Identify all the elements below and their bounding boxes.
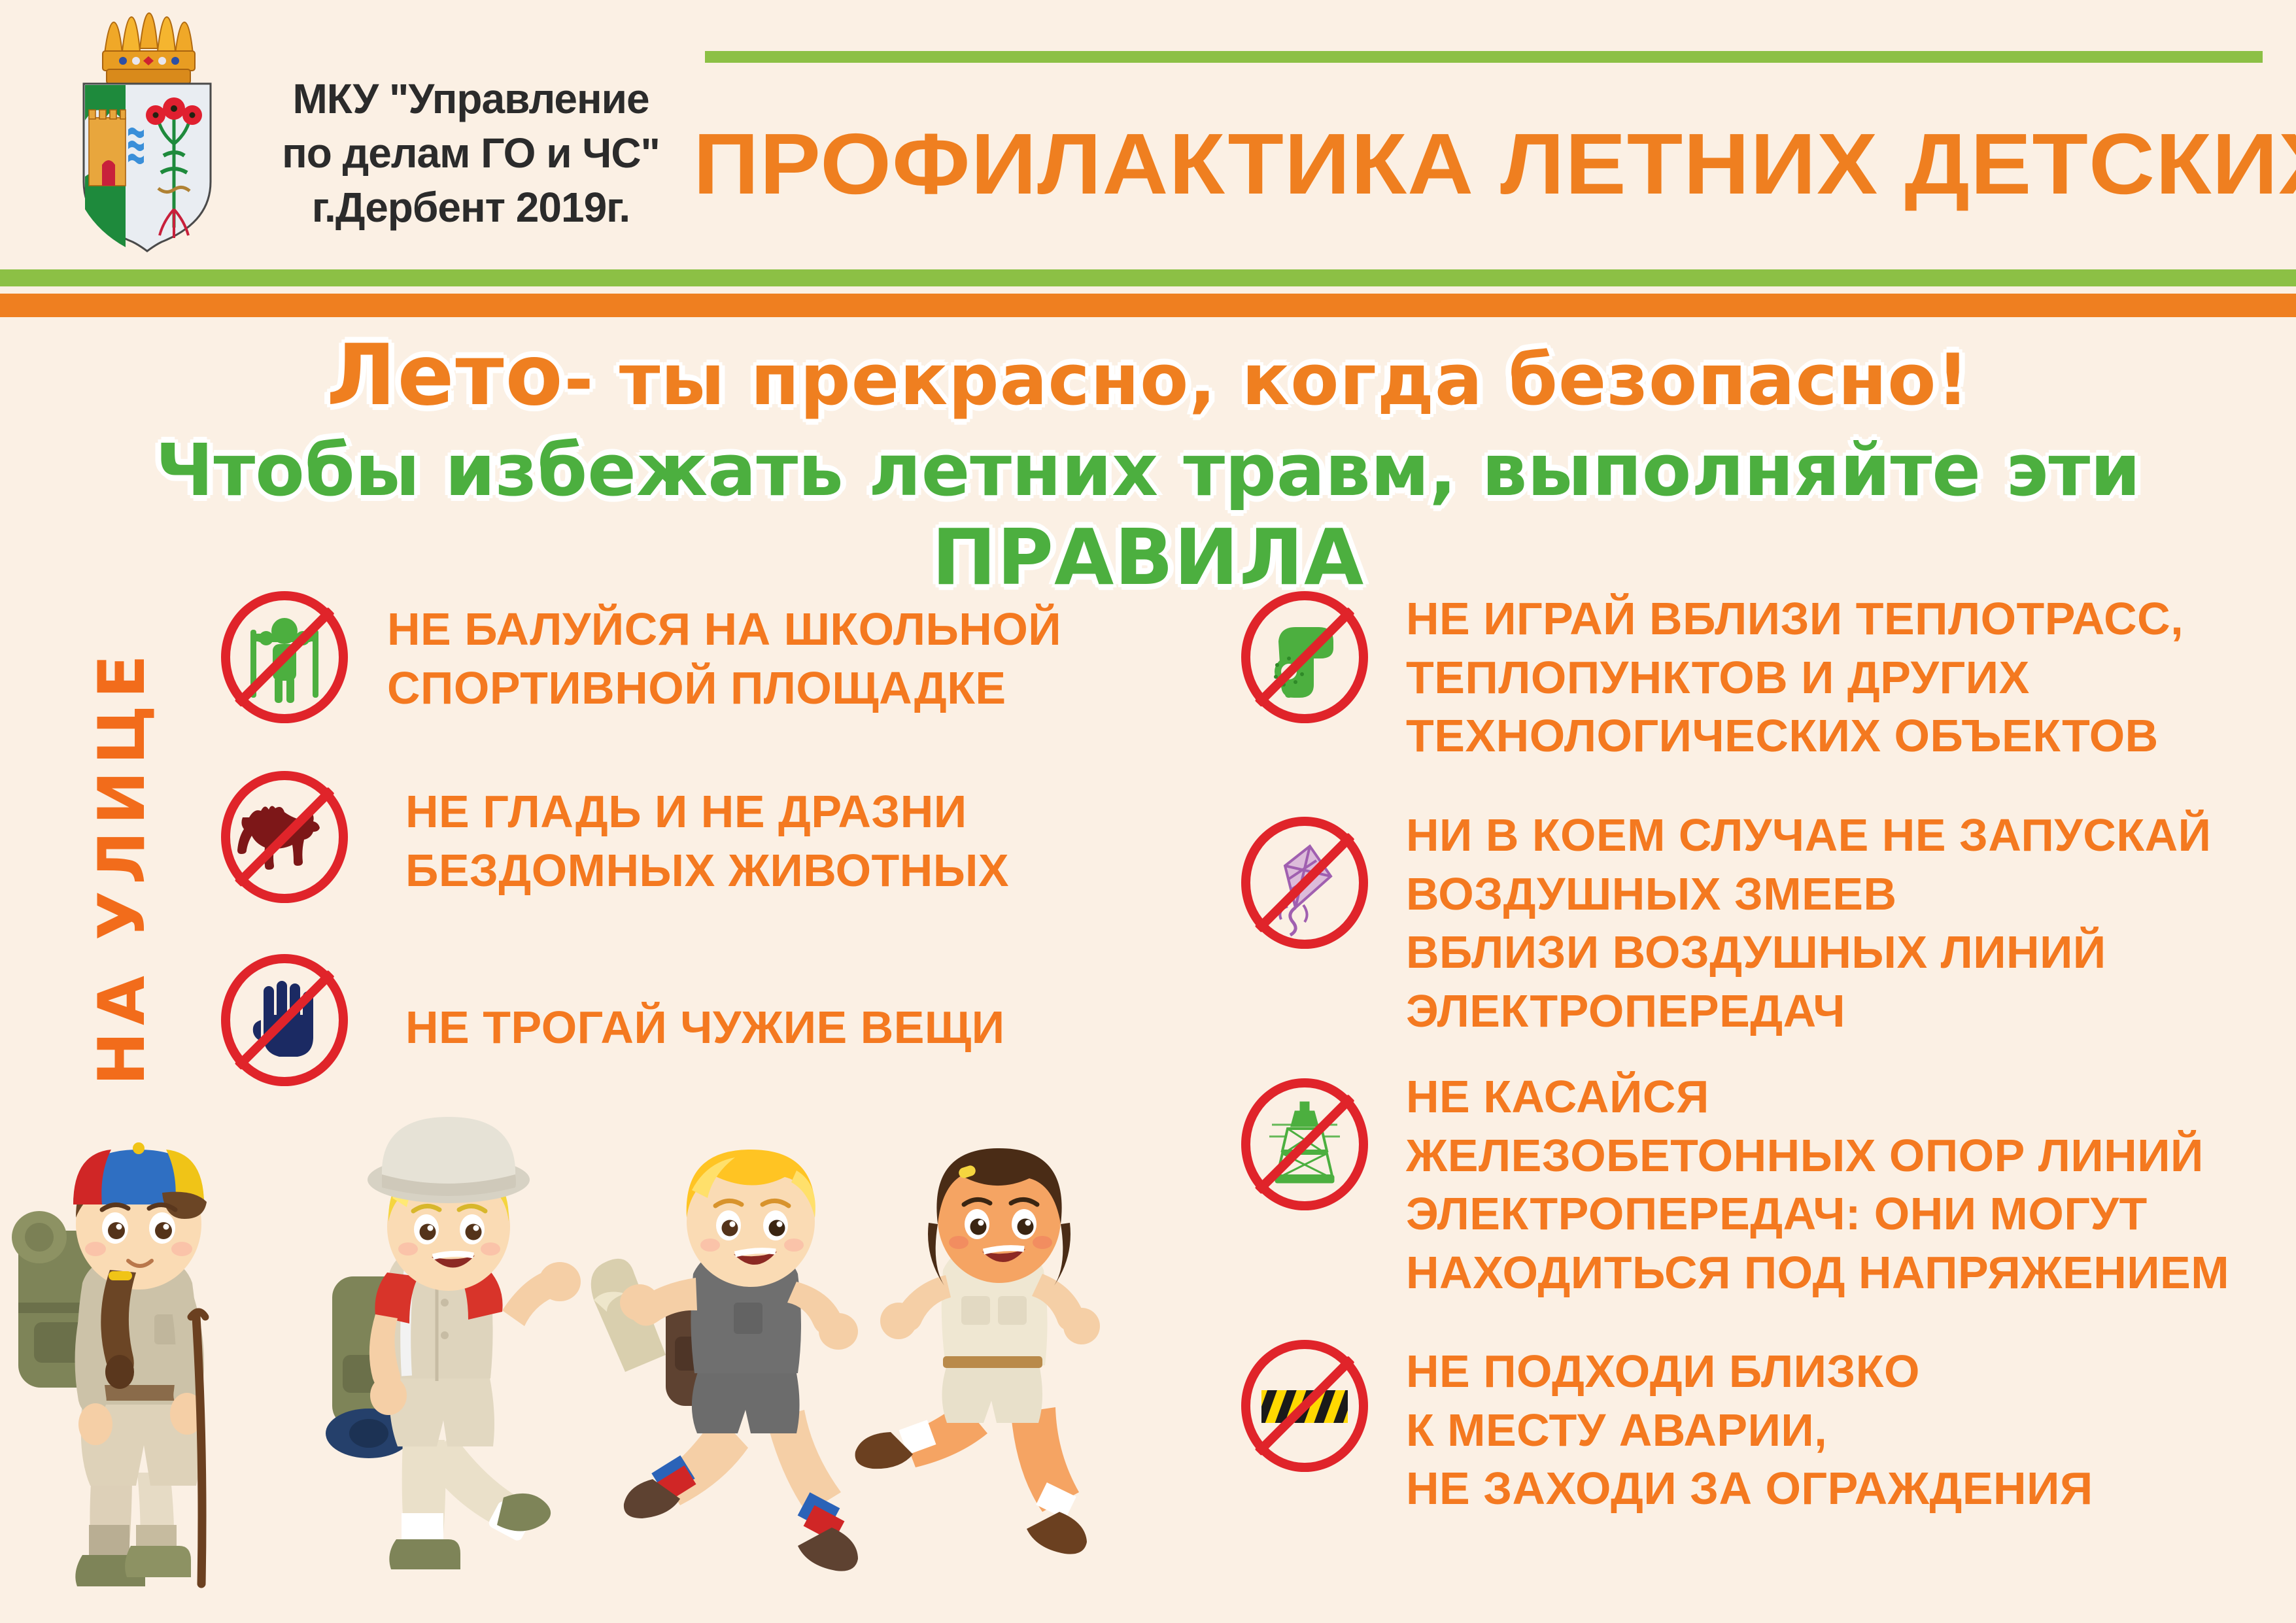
rule-line: ЭЛЕКТРОПЕРЕДАЧ: ОНИ МОГУТ <box>1406 1185 2229 1244</box>
org-line-1: МКУ "Управление <box>262 72 680 126</box>
rule-no-touch-pylons: НЕ КАСАЙСЯ ЖЕЛЕЗОБЕТОННЫХ ОПОР ЛИНИЙ ЭЛЕ… <box>1236 1076 2282 1302</box>
no-barrier-tape-icon <box>1236 1337 1373 1475</box>
rule-line: НЕ ТРОГАЙ ЧУЖИЕ ВЕЩИ <box>405 999 1005 1057</box>
no-power-pylon-icon <box>1236 1076 1373 1213</box>
divider-green-bar <box>0 269 2296 286</box>
rule-text: НЕ ТРОГАЙ ЧУЖИЕ ВЕЩИ <box>405 999 1005 1057</box>
rule-line: ТЕПЛОПУНКТОВ И ДРУГИХ <box>1406 649 2184 708</box>
rule-line: НАХОДИТЬСЯ ПОД НАПРЯЖЕНИЕМ <box>1406 1244 2229 1303</box>
rule-no-stray-animals: НЕ ГЛАДЬ И НЕ ДРАЗНИ БЕЗДОМНЫХ ЖИВОТНЫХ <box>216 768 1099 906</box>
rule-no-kites-near-powerlines: НИ В КОЕМ СЛУЧАЕ НЕ ЗАПУСКАЙ ВОЗДУШНЫХ З… <box>1236 814 2282 1040</box>
rule-line: НЕ ЗАХОДИ ЗА ОГРАЖДЕНИЯ <box>1406 1460 2093 1518</box>
child-blond-boy-running <box>591 1150 858 1571</box>
rule-text: НЕ БАЛУЙСЯ НА ШКОЛЬНОЙ СПОРТИВНОЙ ПЛОЩАД… <box>387 600 1061 717</box>
page-title: ПРОФИЛАКТИКА ЛЕТНИХ ДЕТСКИХ ТРАВМ <box>693 121 2296 207</box>
org-line-2: по делам ГО и ЧС" <box>262 126 680 180</box>
subtitle-line-1: Лето - ты прекрасно, когда безопасно! <box>0 327 2296 424</box>
rule-line: К МЕСТУ АВАРИИ, <box>1406 1401 2093 1460</box>
coat-of-arms-icon <box>65 13 229 248</box>
child-girl-with-cap <box>12 1142 207 1586</box>
rule-line: НЕ БАЛУЙСЯ НА ШКОЛЬНОЙ <box>387 600 1061 659</box>
org-line-3: г.Дербент 2019г. <box>262 180 680 235</box>
rule-no-playground: НЕ БАЛУЙСЯ НА ШКОЛЬНОЙ СПОРТИВНОЙ ПЛОЩАД… <box>216 589 1099 726</box>
organization-name: МКУ "Управление по делам ГО и ЧС" г.Дерб… <box>262 72 680 235</box>
divider-orange-bar <box>0 294 2296 317</box>
poster-header: МКУ "Управление по делам ГО и ЧС" г.Дерб… <box>0 0 2296 288</box>
no-touch-hand-icon <box>216 951 353 1089</box>
subtitle-line-1-rest: - ты прекрасно, когда безопасно! <box>564 339 1970 421</box>
children-illustration <box>0 1106 1177 1623</box>
rule-no-touch-others-things: НЕ ТРОГАЙ ЧУЖИЕ ВЕЩИ <box>216 951 1099 1089</box>
section-label-na-ulitse: НА УЛИЦЕ <box>85 648 160 1085</box>
header-green-accent-bar <box>705 51 2263 63</box>
rule-line: БЕЗДОМНЫХ ЖИВОТНЫХ <box>405 842 1009 900</box>
rule-no-heating-mains: НЕ ИГРАЙ ВБЛИЗИ ТЕПЛОТРАСС, ТЕПЛОПУНКТОВ… <box>1236 589 2282 766</box>
rule-text: НИ В КОЕМ СЛУЧАЕ НЕ ЗАПУСКАЙ ВОЗДУШНЫХ З… <box>1406 806 2211 1040</box>
subtitle-line-2: Чтобы избежать летних травм, выполняйте … <box>0 428 2296 602</box>
no-kite-icon <box>1236 814 1373 951</box>
rule-line: НЕ ПОДХОДИ БЛИЗКО <box>1406 1342 2093 1401</box>
no-stray-dog-icon <box>216 768 353 906</box>
child-boy-safari-hat <box>326 1117 581 1569</box>
child-girl-bob-running <box>855 1148 1100 1554</box>
rule-text: НЕ КАСАЙСЯ ЖЕЛЕЗОБЕТОННЫХ ОПОР ЛИНИЙ ЭЛЕ… <box>1406 1068 2229 1302</box>
no-heating-pipe-icon <box>1236 589 1373 726</box>
rule-line: ЖЕЛЕЗОБЕТОННЫХ ОПОР ЛИНИЙ <box>1406 1127 2229 1186</box>
no-playground-icon <box>216 589 353 726</box>
rule-line: НЕ ГЛАДЬ И НЕ ДРАЗНИ <box>405 783 1009 842</box>
rule-line: ВОЗДУШНЫХ ЗМЕЕВ <box>1406 865 2211 924</box>
rule-line: СПОРТИВНОЙ ПЛОЩАДКЕ <box>387 659 1061 718</box>
rule-line: НЕ ИГРАЙ ВБЛИЗИ ТЕПЛОТРАСС, <box>1406 590 2184 649</box>
rule-text: НЕ ГЛАДЬ И НЕ ДРАЗНИ БЕЗДОМНЫХ ЖИВОТНЫХ <box>405 783 1009 900</box>
subtitle-accent-leto: Лето <box>326 327 564 424</box>
rule-line: ТЕХНОЛОГИЧЕСКИХ ОБЪЕКТОВ <box>1406 707 2184 766</box>
subtitle-line-2-rest: Чтобы избежать летних травм, выполняйте … <box>156 428 2141 512</box>
rule-no-approach-accident: НЕ ПОДХОДИ БЛИЗКО К МЕСТУ АВАРИИ, НЕ ЗАХ… <box>1236 1337 2282 1518</box>
rule-line: НЕ КАСАЙСЯ <box>1406 1068 2229 1127</box>
rule-line: ЭЛЕКТРОПЕРЕДАЧ <box>1406 982 2211 1041</box>
rule-text: НЕ ПОДХОДИ БЛИЗКО К МЕСТУ АВАРИИ, НЕ ЗАХ… <box>1406 1342 2093 1518</box>
rule-line: ВБЛИЗИ ВОЗДУШНЫХ ЛИНИЙ <box>1406 923 2211 982</box>
rule-line: НИ В КОЕМ СЛУЧАЕ НЕ ЗАПУСКАЙ <box>1406 806 2211 865</box>
rule-text: НЕ ИГРАЙ ВБЛИЗИ ТЕПЛОТРАСС, ТЕПЛОПУНКТОВ… <box>1406 590 2184 766</box>
